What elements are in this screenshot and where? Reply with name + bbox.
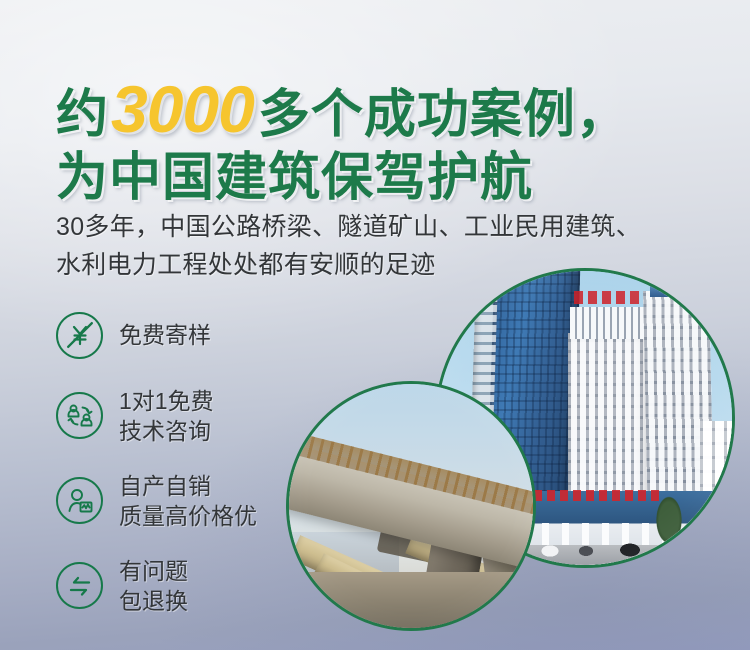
no-yen-icon <box>56 312 103 359</box>
subtitle-line-1: 30多年，中国公路桥梁、隧道矿山、工业民用建筑、 <box>56 208 716 246</box>
feature-label-returns: 有问题 包退换 <box>119 556 188 616</box>
headline-number: 3000 <box>109 72 258 146</box>
feature-label-line-1: 1对1免费 <box>119 386 214 416</box>
headline-line-1: 约3000多个成功案例， <box>56 78 696 146</box>
subtitle-block: 30多年，中国公路桥梁、隧道矿山、工业民用建筑、 水利电力工程处处都有安顺的足迹 <box>56 208 716 284</box>
swap-arrows-icon <box>56 562 103 609</box>
subtitle-line-2: 水利电力工程处处都有安顺的足迹 <box>56 246 716 284</box>
feature-label-consultation: 1对1免费 技术咨询 <box>119 386 214 446</box>
two-people-exchange-icon <box>56 392 103 439</box>
feature-label-line-2: 质量高价格优 <box>119 501 257 531</box>
feature-label-line-2: 包退换 <box>119 586 188 616</box>
headline-line-2: 为中国建筑保驾护航 <box>56 148 696 208</box>
headline-block: 约3000多个成功案例， 为中国建筑保驾护航 <box>56 78 696 208</box>
bridge-ground <box>289 572 533 628</box>
person-chart-icon <box>56 477 103 524</box>
feature-label-line-2: 技术咨询 <box>119 416 214 446</box>
bridge-photo <box>286 381 536 631</box>
feature-label-line-1: 自产自销 <box>119 471 257 501</box>
feature-label-free-sample: 免费寄样 <box>119 320 211 350</box>
headline-suffix: 多个成功案例， <box>258 86 629 144</box>
feature-label-line-1: 免费寄样 <box>119 322 211 348</box>
feature-label-self-production: 自产自销 质量高价格优 <box>119 471 257 531</box>
feature-label-line-1: 有问题 <box>119 556 188 586</box>
feature-item-free-sample: 免费寄样 <box>56 297 356 373</box>
headline-prefix: 约 <box>56 86 109 144</box>
building-top-signage <box>574 291 646 304</box>
building-center-crown <box>570 307 648 339</box>
building-entrance-signage <box>534 490 664 501</box>
promo-banner: 约3000多个成功案例， 为中国建筑保驾护航 30多年，中国公路桥梁、隧道矿山、… <box>0 0 750 650</box>
